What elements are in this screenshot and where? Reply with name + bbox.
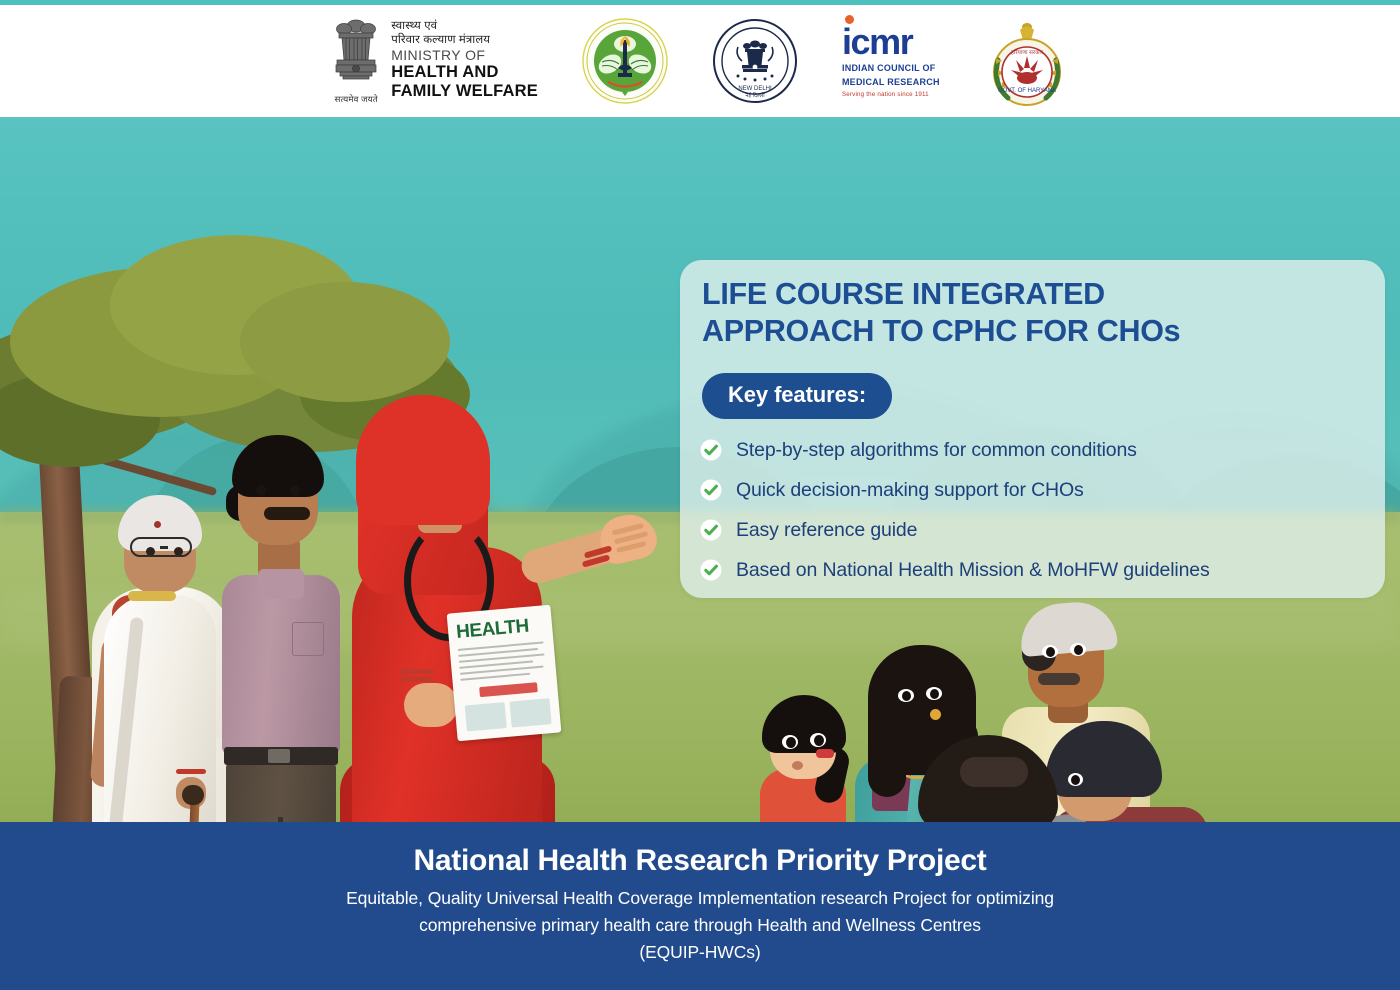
bangle: [176, 769, 206, 774]
logo-mohfw: सत्यमेव जयते स्वास्थ्य एवं परिवार कल्याण…: [330, 13, 538, 109]
feature-list: Step-by-step algorithms for common condi…: [700, 430, 1365, 590]
bindi: [154, 521, 161, 528]
footer-subtitle-line-1: Equitable, Quality Universal Health Cove…: [0, 885, 1400, 912]
check-circle-icon: [700, 559, 722, 581]
mohfw-text-block: स्वास्थ्य एवं परिवार कल्याण मंत्रालय MIN…: [391, 20, 538, 101]
govt-of-haryana-seal-icon: हरियाणा सरकार GOVT. OF HARYANA: [984, 18, 1070, 104]
man-trousers: [226, 762, 336, 822]
feature-item: Easy reference guide: [700, 510, 1365, 550]
pgimer-seal-icon: [582, 18, 668, 104]
girl-mouth: [792, 761, 803, 770]
girl-hair-tie: [816, 749, 834, 758]
seated-woman-pupil: [902, 691, 911, 701]
girl-pupil: [786, 737, 796, 748]
cane-handle: [182, 785, 204, 805]
icmr-wordmark-icon: icmr INDIAN COUNCIL OF MEDICAL RESEARCH …: [842, 24, 940, 98]
mohfw-health-and: HEALTH AND: [391, 63, 538, 82]
man-eye: [290, 485, 300, 496]
back-figure-hair-highlight: [960, 757, 1028, 787]
feature-text: Step-by-step algorithms for common condi…: [736, 439, 1137, 462]
footer-subtitle-line-2: comprehensive primary health care throug…: [0, 912, 1400, 939]
check-circle-icon: [700, 519, 722, 541]
necklace: [128, 591, 176, 601]
mohfw-hindi-line-1: स्वास्थ्य एवं: [391, 20, 538, 33]
pamphlet-title: HEALTH: [455, 616, 529, 644]
bangle: [400, 669, 434, 674]
feature-item: Based on National Health Mission & MoHFW…: [700, 550, 1365, 590]
feature-item: Quick decision-making support for CHOs: [700, 470, 1365, 510]
elder-man-pupil: [1046, 647, 1055, 657]
elder-man-moustache: [1038, 673, 1080, 685]
footer-banner: National Health Research Priority Projec…: [0, 822, 1400, 990]
footer-subtitle-line-3: (EQUIP-HWCs): [0, 939, 1400, 966]
icmr-sub-line-1: INDIAN COUNCIL OF: [842, 63, 936, 74]
man-shirt-pocket: [292, 622, 324, 656]
girl-pupil: [814, 735, 824, 746]
hero-illustration: HEALTH: [0, 117, 1400, 822]
boy-pupil: [1071, 775, 1080, 785]
mohfw-hindi-line-2: परिवार कल्याण मंत्रालय: [391, 34, 538, 47]
panel-title-line-2: APPROACH TO CPHC FOR CHOs: [702, 313, 1362, 350]
svg-text:हरियाणा सरकार: हरियाणा सरकार: [1011, 49, 1044, 56]
man-eye: [256, 485, 266, 496]
seated-woman-pupil: [930, 689, 939, 699]
emblem-motto: सत्यमेव जयते: [335, 94, 378, 105]
cho-head-veil: [356, 395, 490, 525]
svg-text:GOVT. OF HARYANA: GOVT. OF HARYANA: [998, 88, 1056, 94]
man-shirt: [222, 575, 340, 755]
icmr-dot-icon: [845, 15, 854, 24]
feature-text: Based on National Health Mission & MoHFW…: [736, 559, 1210, 582]
feature-text: Quick decision-making support for CHOs: [736, 479, 1084, 502]
pamphlet-text-line: [460, 673, 530, 681]
svg-text:नई दिल्ली: नई दिल्ली: [745, 92, 765, 99]
pamphlet-highlight: [479, 682, 538, 697]
key-features-badge: Key features:: [702, 373, 892, 419]
bangle: [400, 677, 434, 682]
man-collar: [258, 569, 304, 599]
mohfw-family-welfare: FAMILY WELFARE: [391, 82, 538, 101]
national-emblem-icon: सत्यमेव जयते: [330, 17, 382, 105]
check-circle-icon: [700, 439, 722, 461]
icmr-seal-icon: NEW DELHI नई दिल्ली: [712, 18, 798, 104]
pamphlet-panel: [510, 698, 552, 727]
elder-man-pupil: [1074, 645, 1083, 655]
icmr-word: icmr: [842, 24, 912, 60]
mohfw-ministry-of: MINISTRY OF: [391, 47, 538, 63]
logo-icmr-seal: NEW DELHI नई दिल्ली: [712, 13, 798, 109]
poster-root: सत्यमेव जयते स्वास्थ्य एवं परिवार कल्याण…: [0, 0, 1400, 990]
health-pamphlet: HEALTH: [447, 605, 562, 742]
glasses-icon: [130, 537, 192, 557]
svg-text:NEW DELHI: NEW DELHI: [738, 86, 772, 92]
panel-title-line-1: LIFE COURSE INTEGRATED: [702, 276, 1362, 313]
key-features-panel: LIFE COURSE INTEGRATED APPROACH TO CPHC …: [680, 260, 1385, 598]
icmr-tagline: Serving the nation since 1911: [842, 92, 929, 98]
feature-item: Step-by-step algorithms for common condi…: [700, 430, 1365, 470]
man-belt-buckle: [268, 749, 290, 763]
seated-woman-earring: [930, 709, 941, 720]
panel-title: LIFE COURSE INTEGRATED APPROACH TO CPHC …: [702, 276, 1362, 349]
feature-text: Easy reference guide: [736, 519, 917, 542]
logo-haryana: हरियाणा सरकार GOVT. OF HARYANA: [984, 13, 1070, 109]
tree-canopy: [240, 282, 450, 402]
footer-subtitle: Equitable, Quality Universal Health Cove…: [0, 877, 1400, 966]
logo-icmr-wordmark: icmr INDIAN COUNCIL OF MEDICAL RESEARCH …: [842, 13, 940, 109]
pamphlet-panel: [465, 702, 507, 731]
footer-title: National Health Research Priority Projec…: [0, 822, 1400, 877]
logo-pgimer: [582, 13, 668, 109]
icmr-sub-line-2: MEDICAL RESEARCH: [842, 77, 940, 88]
cho-holding-hand: [404, 683, 458, 727]
man-moustache: [264, 507, 310, 520]
logo-bar: सत्यमेव जयते स्वास्थ्य एवं परिवार कल्याण…: [0, 5, 1400, 117]
check-circle-icon: [700, 479, 722, 501]
